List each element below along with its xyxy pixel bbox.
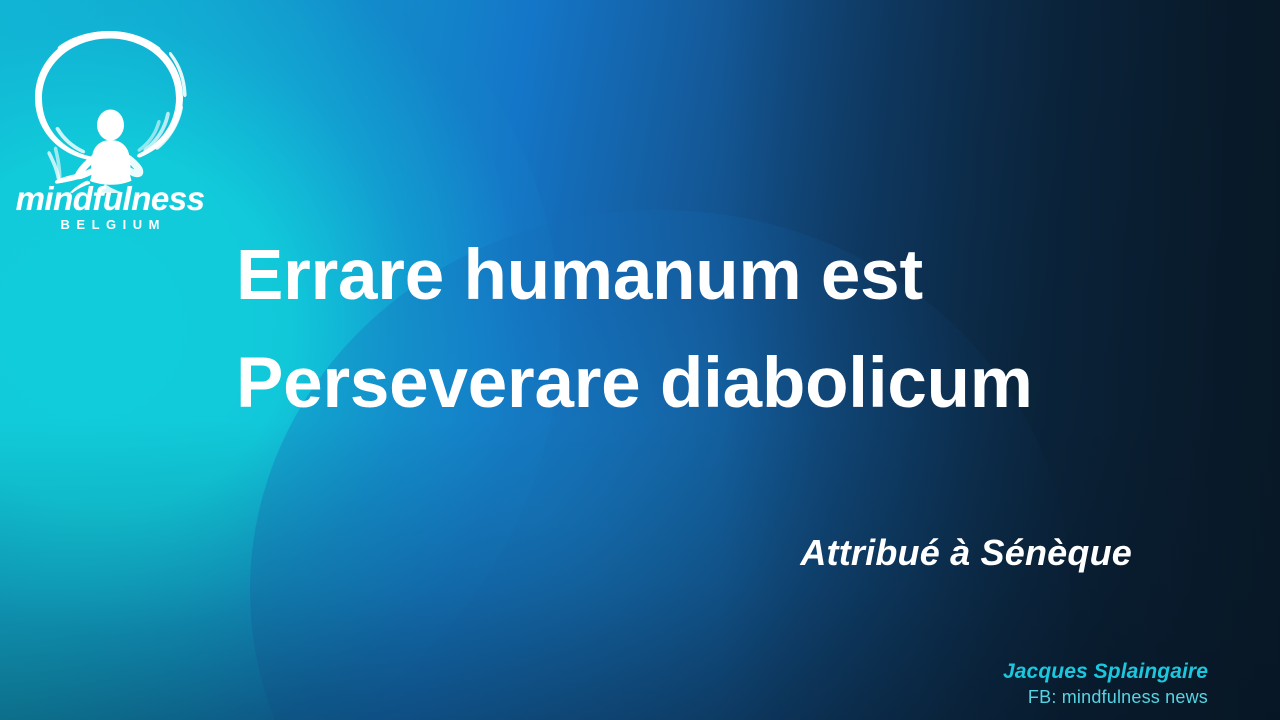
quote-line-1: Errare humanum est: [236, 222, 1236, 330]
logo-artwork: [10, 18, 210, 193]
logo-country-label: BELGIUM: [10, 218, 210, 231]
presentation-slide: mindfulness BELGIUM Errare humanum est P…: [0, 0, 1280, 720]
credits-block: Jacques Splaingaire FB: mindfulness news: [1003, 660, 1208, 708]
brand-logo: mindfulness BELGIUM: [10, 18, 210, 228]
quote-attribution: Attribué à Sénèque: [236, 532, 1132, 574]
quote-line-2: Perseverare diabolicum: [236, 330, 1236, 438]
logo-wordmark: mindfulness: [10, 182, 210, 215]
credit-social-handle: FB: mindfulness news: [1003, 687, 1208, 708]
quote-text: Errare humanum est Perseverare diabolicu…: [236, 222, 1236, 438]
credit-author-name: Jacques Splaingaire: [1003, 660, 1208, 685]
